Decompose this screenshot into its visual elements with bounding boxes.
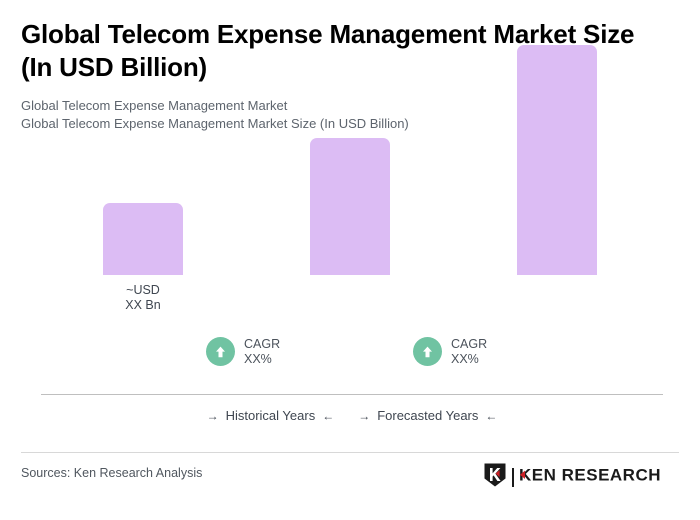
cagr-title-2: CAGR [451, 337, 487, 352]
sources-text: Sources: Ken Research Analysis [21, 466, 202, 480]
cagr-text-2: CAGR XX% [451, 337, 487, 366]
period-forecasted: → Forecasted Years ← [358, 408, 497, 423]
period-forecasted-label: Forecasted Years [377, 408, 478, 423]
arrow-up-icon [413, 337, 442, 366]
ken-shield-icon [483, 462, 507, 493]
ken-research-logo: KEN RESEARCH [483, 462, 669, 493]
arrow-left-icon: ← [485, 409, 497, 423]
bar-value-label-1: ~USD XX Bn [83, 283, 203, 312]
bar-1[interactable] [103, 203, 183, 275]
bar-2[interactable] [310, 138, 390, 275]
cagr-value-2: XX% [451, 352, 487, 367]
cagr-title-1: CAGR [244, 337, 280, 352]
bar-value-line-1a: ~USD [83, 283, 203, 298]
footer-divider [21, 452, 679, 453]
period-labels: → Historical Years ← → Forecasted Years … [41, 408, 663, 423]
infographic-card: Global Telecom Expense Management Market… [0, 0, 700, 520]
arrow-right-icon: → [207, 409, 219, 423]
arrow-up-icon [206, 337, 235, 366]
period-historical: → Historical Years ← [207, 408, 335, 423]
axis-baseline [41, 394, 663, 395]
bar-chart: ~USD XX Bn CAGR XX% ~USD 3.7 Bn [0, 0, 700, 400]
arrow-right-icon: → [358, 409, 370, 423]
bar-3[interactable] [517, 45, 597, 275]
cagr-text-1: CAGR XX% [244, 337, 280, 366]
cagr-value-1: XX% [244, 352, 280, 367]
logo-wordmark: KEN RESEARCH [519, 465, 669, 490]
cagr-badge-2[interactable]: CAGR XX% [413, 337, 487, 366]
cagr-badge-1[interactable]: CAGR XX% [206, 337, 280, 366]
period-historical-label: Historical Years [226, 408, 316, 423]
arrow-left-icon: ← [322, 409, 334, 423]
svg-text:KEN RESEARCH: KEN RESEARCH [519, 466, 661, 485]
bar-value-line-1b: XX Bn [83, 298, 203, 313]
logo-divider [512, 468, 514, 487]
